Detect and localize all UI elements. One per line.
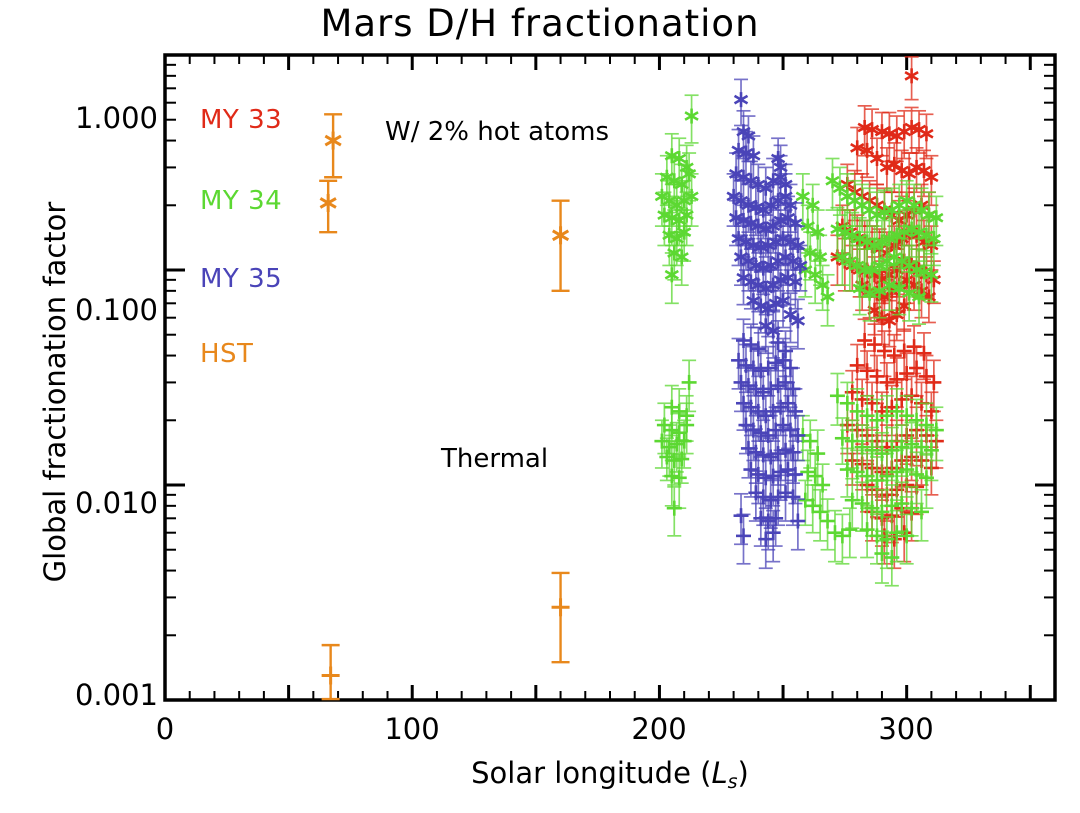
series-hst-hot	[319, 114, 569, 291]
error-bar	[552, 201, 570, 291]
chart-figure: Mars D/H fractionation Global fractionat…	[0, 0, 1080, 813]
series-my-35-thermal	[731, 319, 805, 568]
series-my-35-hot	[727, 79, 808, 358]
data-layer	[319, 57, 944, 699]
error-bar	[552, 573, 570, 662]
series-hst-thermal	[322, 573, 570, 699]
plot-area	[0, 0, 1080, 813]
series-my-34-thermal	[654, 360, 943, 585]
